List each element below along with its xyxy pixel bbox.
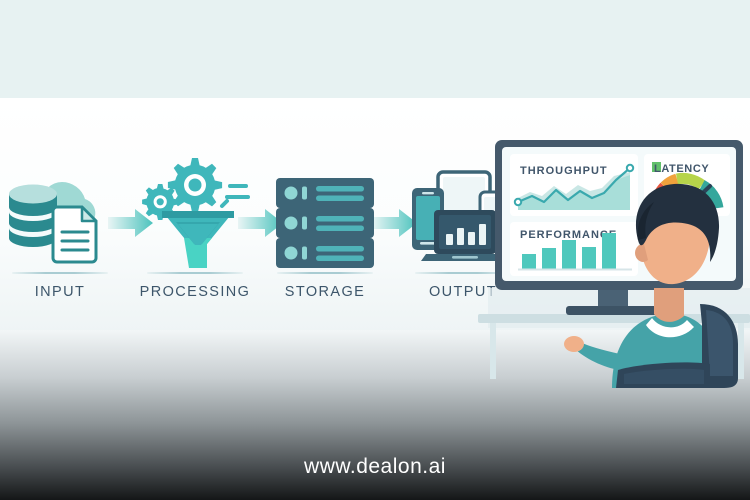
panel-throughput: THROUGHPUT [510,154,638,216]
background-top-band [0,0,750,98]
server-rack-icon [260,150,390,270]
pipeline-stage-storage: STORAGE [260,150,390,300]
panel-performance: PERFORMANCE [510,222,638,276]
stage-label-processing: PROCESSING [130,284,260,300]
pipeline-stage-processing: PROCESSING [130,150,260,300]
footer-url: www.dealon.ai [0,455,750,479]
stage-label-storage: STORAGE [260,284,390,300]
stage-divider [12,272,108,274]
stage-divider [147,272,243,274]
database-cloud-document-icon [0,150,125,270]
stage-label-input: INPUT [0,284,125,300]
svg-text:THROUGHPUT: THROUGHPUT [520,165,608,177]
pipeline-stage-input: INPUT [0,150,125,300]
funnel-gears-icon [130,150,260,270]
illustration-canvas: INPUT [0,0,750,500]
stage-divider [277,272,373,274]
workstation-scene: THROUGHPUT LATENCY [488,128,750,388]
